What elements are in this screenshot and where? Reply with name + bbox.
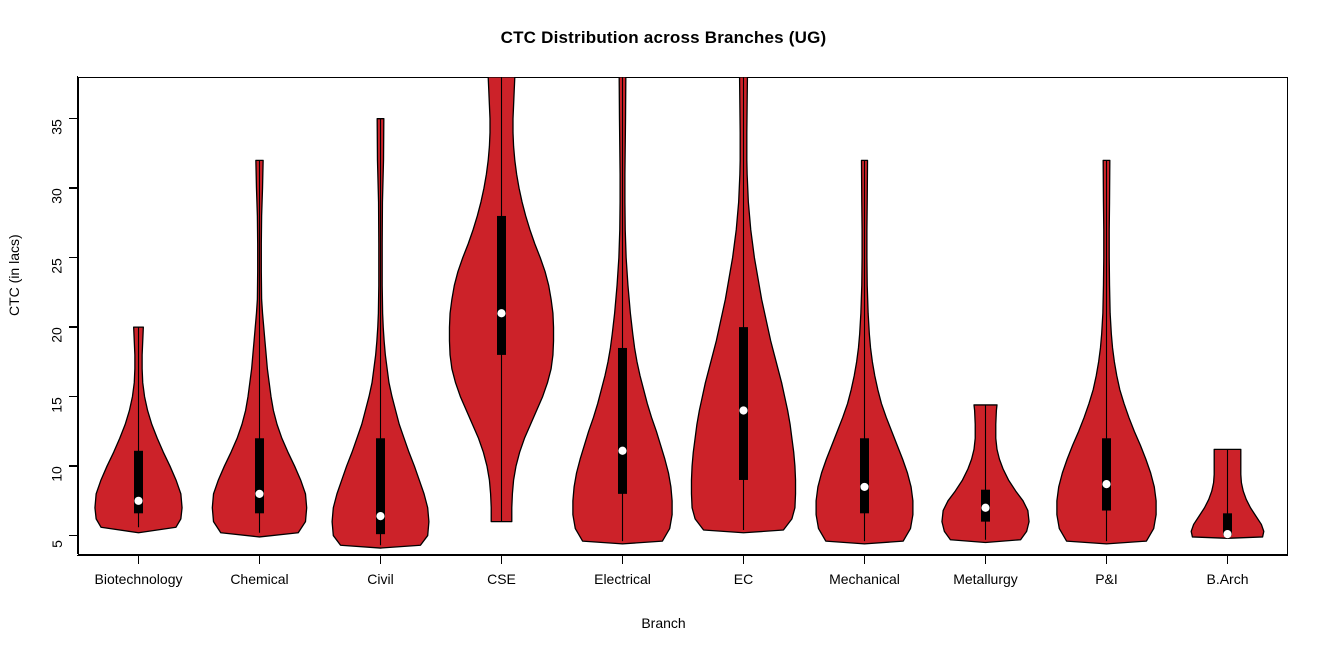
x-tick-label-electrical: Electrical	[594, 571, 651, 587]
violin-median-dot	[618, 447, 626, 455]
violin-iqr-box	[497, 216, 506, 355]
chart-title: CTC Distribution across Branches (UG)	[0, 28, 1327, 48]
x-tick-mark	[380, 555, 381, 564]
y-tick-label: 5	[49, 540, 65, 548]
violin-civil	[332, 119, 429, 548]
violin-series-layer	[78, 77, 1288, 555]
x-axis-title: Branch	[0, 615, 1327, 631]
violin-iqr-box	[860, 438, 869, 513]
x-tick-mark	[138, 555, 139, 564]
x-tick-label-civil: Civil	[367, 571, 393, 587]
violin-median-dot	[860, 483, 868, 491]
violin-electrical	[573, 77, 672, 544]
x-tick-mark	[985, 555, 986, 564]
violin-cse	[449, 77, 553, 522]
x-tick-mark	[501, 555, 502, 564]
y-tick-mark	[69, 535, 78, 536]
x-tick-label-ec: EC	[734, 571, 753, 587]
x-tick-mark	[1106, 555, 1107, 564]
x-tick-mark	[259, 555, 260, 564]
violin-median-dot	[1102, 480, 1110, 488]
y-axis: 5101520253035	[0, 77, 78, 555]
violin-median-dot	[739, 406, 747, 414]
y-tick-mark	[69, 257, 78, 258]
y-tick-label: 35	[49, 119, 65, 135]
x-tick-label-b-arch: B.Arch	[1206, 571, 1248, 587]
x-tick-mark	[864, 555, 865, 564]
violin-median-dot	[981, 504, 989, 512]
y-tick-label: 15	[49, 397, 65, 413]
plot-area	[78, 77, 1288, 555]
violin-iqr-box	[739, 327, 748, 480]
x-tick-label-chemical: Chemical	[230, 571, 288, 587]
y-tick-mark	[69, 118, 78, 119]
x-tick-label-p-i: P&I	[1095, 571, 1118, 587]
x-tick-label-metallurgy: Metallurgy	[953, 571, 1018, 587]
y-tick-mark	[69, 326, 78, 327]
y-tick-label: 20	[49, 327, 65, 343]
violin-iqr-box	[255, 438, 264, 513]
x-tick-label-cse: CSE	[487, 571, 516, 587]
violin-ec	[691, 77, 795, 533]
y-tick-mark	[69, 396, 78, 397]
violin-chart: CTC Distribution across Branches (UG) 51…	[0, 0, 1327, 653]
violin-median-dot	[497, 309, 505, 317]
violin-mechanical	[816, 160, 913, 544]
violin-median-dot	[1223, 530, 1231, 538]
violin-metallurgy	[942, 405, 1029, 543]
x-tick-mark	[743, 555, 744, 564]
x-tick-mark	[622, 555, 623, 564]
y-tick-label: 25	[49, 258, 65, 274]
violin-iqr-box	[618, 348, 627, 494]
x-tick-mark	[1227, 555, 1228, 564]
violin-chemical	[212, 160, 306, 537]
violin-b-arch	[1191, 449, 1264, 538]
y-tick-label: 10	[49, 466, 65, 482]
y-tick-mark	[69, 465, 78, 466]
y-axis-title: CTC (in lacs)	[6, 234, 22, 316]
y-tick-mark	[69, 187, 78, 188]
violin-median-dot	[376, 512, 384, 520]
violin-median-dot	[134, 497, 142, 505]
violin-p-i	[1057, 160, 1156, 544]
violin-biotechnology	[95, 327, 182, 533]
y-tick-label: 30	[49, 188, 65, 204]
violin-iqr-box	[1102, 438, 1111, 510]
x-axis: BiotechnologyChemicalCivilCSEElectricalE…	[78, 555, 1288, 615]
violin-median-dot	[255, 490, 263, 498]
x-tick-label-biotechnology: Biotechnology	[95, 571, 183, 587]
x-tick-label-mechanical: Mechanical	[829, 571, 900, 587]
